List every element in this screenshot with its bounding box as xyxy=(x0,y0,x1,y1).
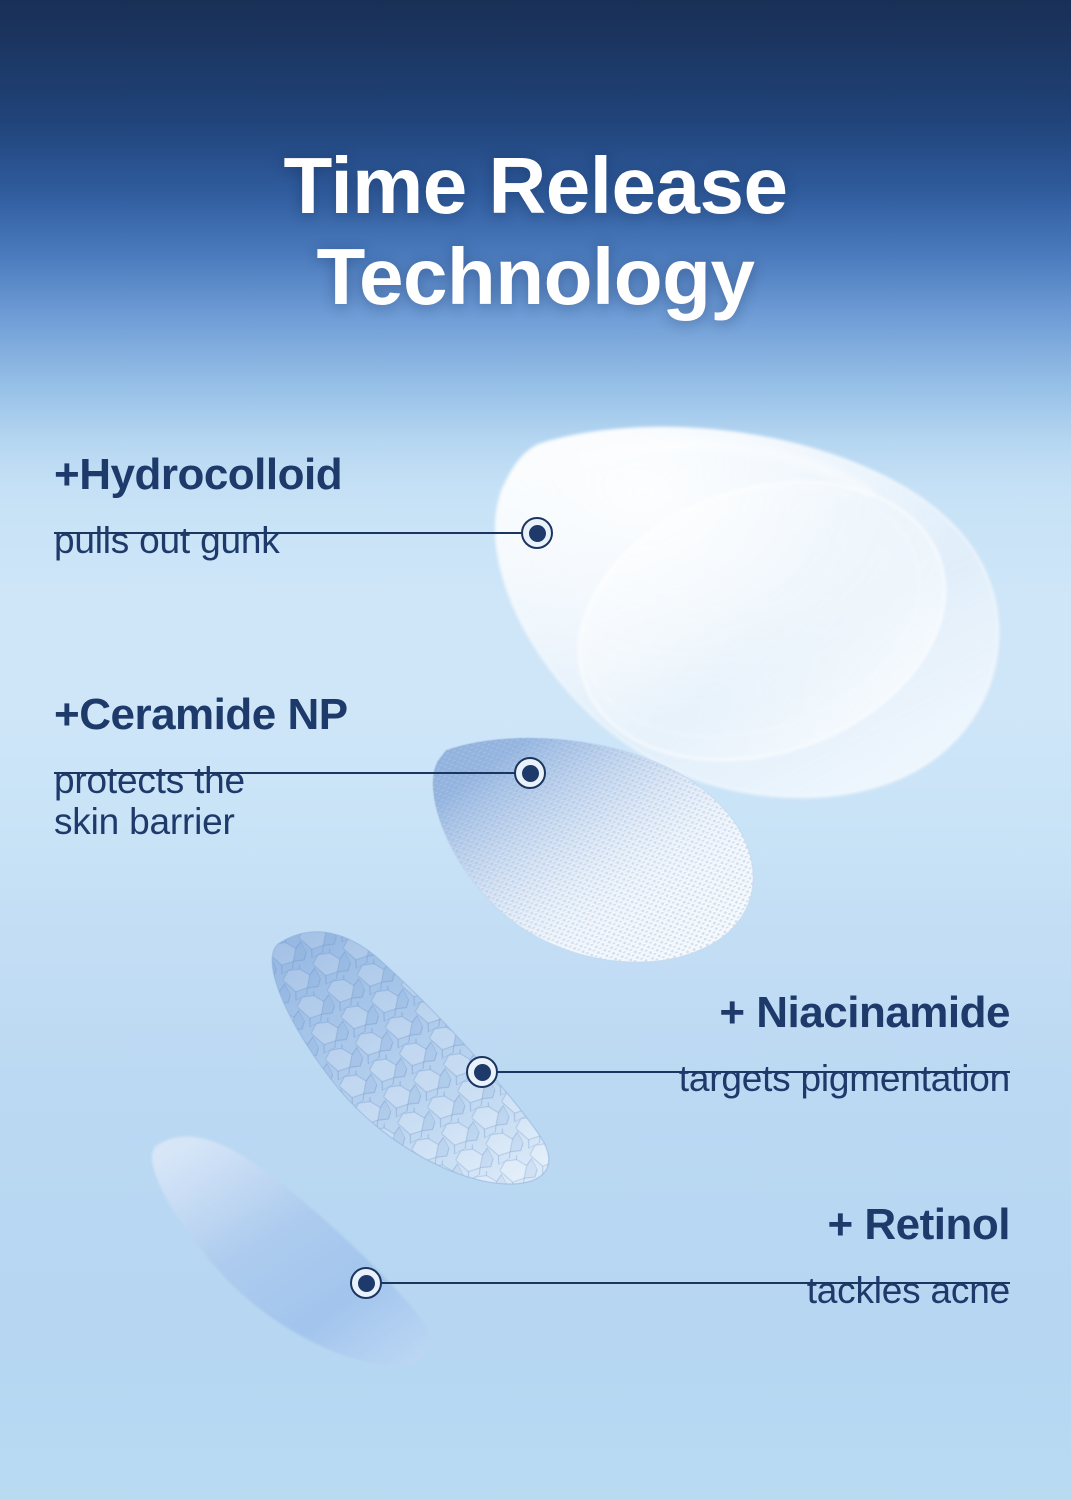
callout-description-hydrocolloid: pulls out gunk xyxy=(54,520,524,561)
callout-dot-icon-retinol xyxy=(350,1267,382,1299)
callout-niacinamide: + Niacinamide targets pigmentation xyxy=(500,990,1010,1099)
callout-retinol: + Retinol tackles acne xyxy=(400,1202,1010,1311)
callout-hydrocolloid: +Hydrocolloid pulls out gunk xyxy=(54,452,524,561)
callout-dot-icon-niacinamide xyxy=(466,1056,498,1088)
callout-description-retinol: tackles acne xyxy=(400,1270,1010,1311)
callout-description-ceramide-np: protects the skin barrier xyxy=(54,760,524,843)
callout-heading-retinol: + Retinol xyxy=(400,1202,1010,1248)
callout-heading-ceramide-np: +Ceramide NP xyxy=(54,692,524,738)
callout-ceramide-np: +Ceramide NP protects the skin barrier xyxy=(54,692,524,843)
infographic-poster: Time Release Technology +Hydrocolloid pu… xyxy=(0,0,1071,1500)
callout-description-ceramide-np-line-1: protects the xyxy=(54,760,524,801)
callout-description-niacinamide: targets pigmentation xyxy=(500,1058,1010,1099)
title-line-1: Time Release xyxy=(284,141,788,230)
callout-heading-niacinamide: + Niacinamide xyxy=(500,990,1010,1036)
title-line-2: Technology xyxy=(0,231,1071,322)
page-title: Time Release Technology xyxy=(0,140,1071,322)
callout-description-ceramide-np-line-2: skin barrier xyxy=(54,801,524,842)
callout-dot-icon-hydrocolloid xyxy=(521,517,553,549)
callout-heading-hydrocolloid: +Hydrocolloid xyxy=(54,452,524,498)
